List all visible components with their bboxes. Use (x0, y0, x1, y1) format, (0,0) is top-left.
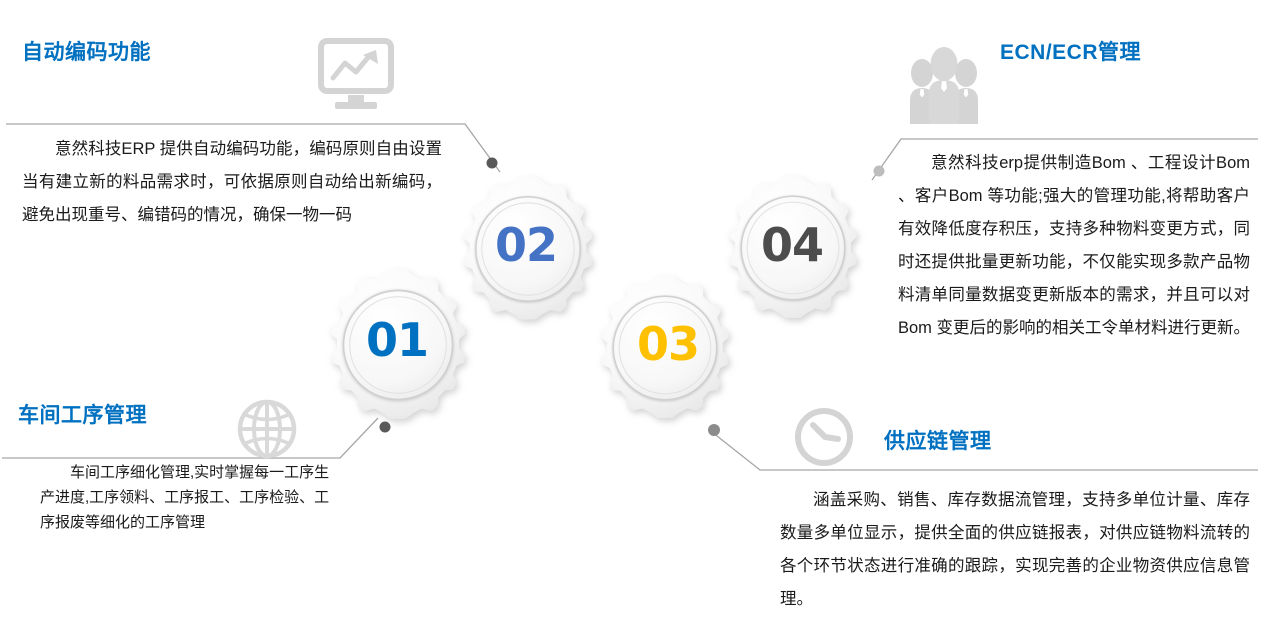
panel-body-workshop: 车间工序细化管理,实时掌握每一工序生产进度,工序领料、工序报工、工序检验、工序报… (40, 460, 340, 535)
globe-icon (236, 398, 298, 460)
connector-endpoints (380, 158, 885, 437)
gear-number-03: 03 (637, 321, 699, 367)
connector-dot-top-right (874, 166, 885, 177)
panel-heading-auto-code: 自动编码功能 (22, 36, 151, 66)
monitor-chart-icon (318, 38, 394, 118)
panel-body-ecn-ecr: 意然科技erp提供制造Bom 、工程设计Bom 、客户Bom 等功能;强大的管理… (898, 147, 1250, 345)
panel-body-supply-chain: 涵盖采购、销售、库存数据流管理，支持多单位计量、库存数量多单位显示，提供全面的供… (780, 484, 1250, 616)
panel-body-auto-code: 意然科技ERP 提供自动编码功能，编码原则自由设置当有建立新的料品需求时，可依据… (22, 133, 442, 232)
connector-dot-bottom-right (708, 424, 720, 436)
panel-heading-workshop: 车间工序管理 (18, 399, 147, 429)
clock-icon (793, 406, 855, 468)
infographic-canvas: 01 02 03 04 自动编码功能 意然科技ERP 提供自动编码 (0, 0, 1263, 640)
gear-number-01: 01 (366, 317, 428, 363)
people-group-icon (908, 46, 980, 124)
gear-number-02: 02 (495, 222, 557, 268)
panel-heading-ecn-ecr: ECN/ECR管理 (1000, 36, 1141, 66)
panel-heading-supply-chain: 供应链管理 (884, 425, 992, 455)
connector-dot-top-left (487, 158, 498, 169)
gear-number-04: 04 (761, 222, 823, 268)
connector-dot-bottom-left (380, 422, 391, 433)
